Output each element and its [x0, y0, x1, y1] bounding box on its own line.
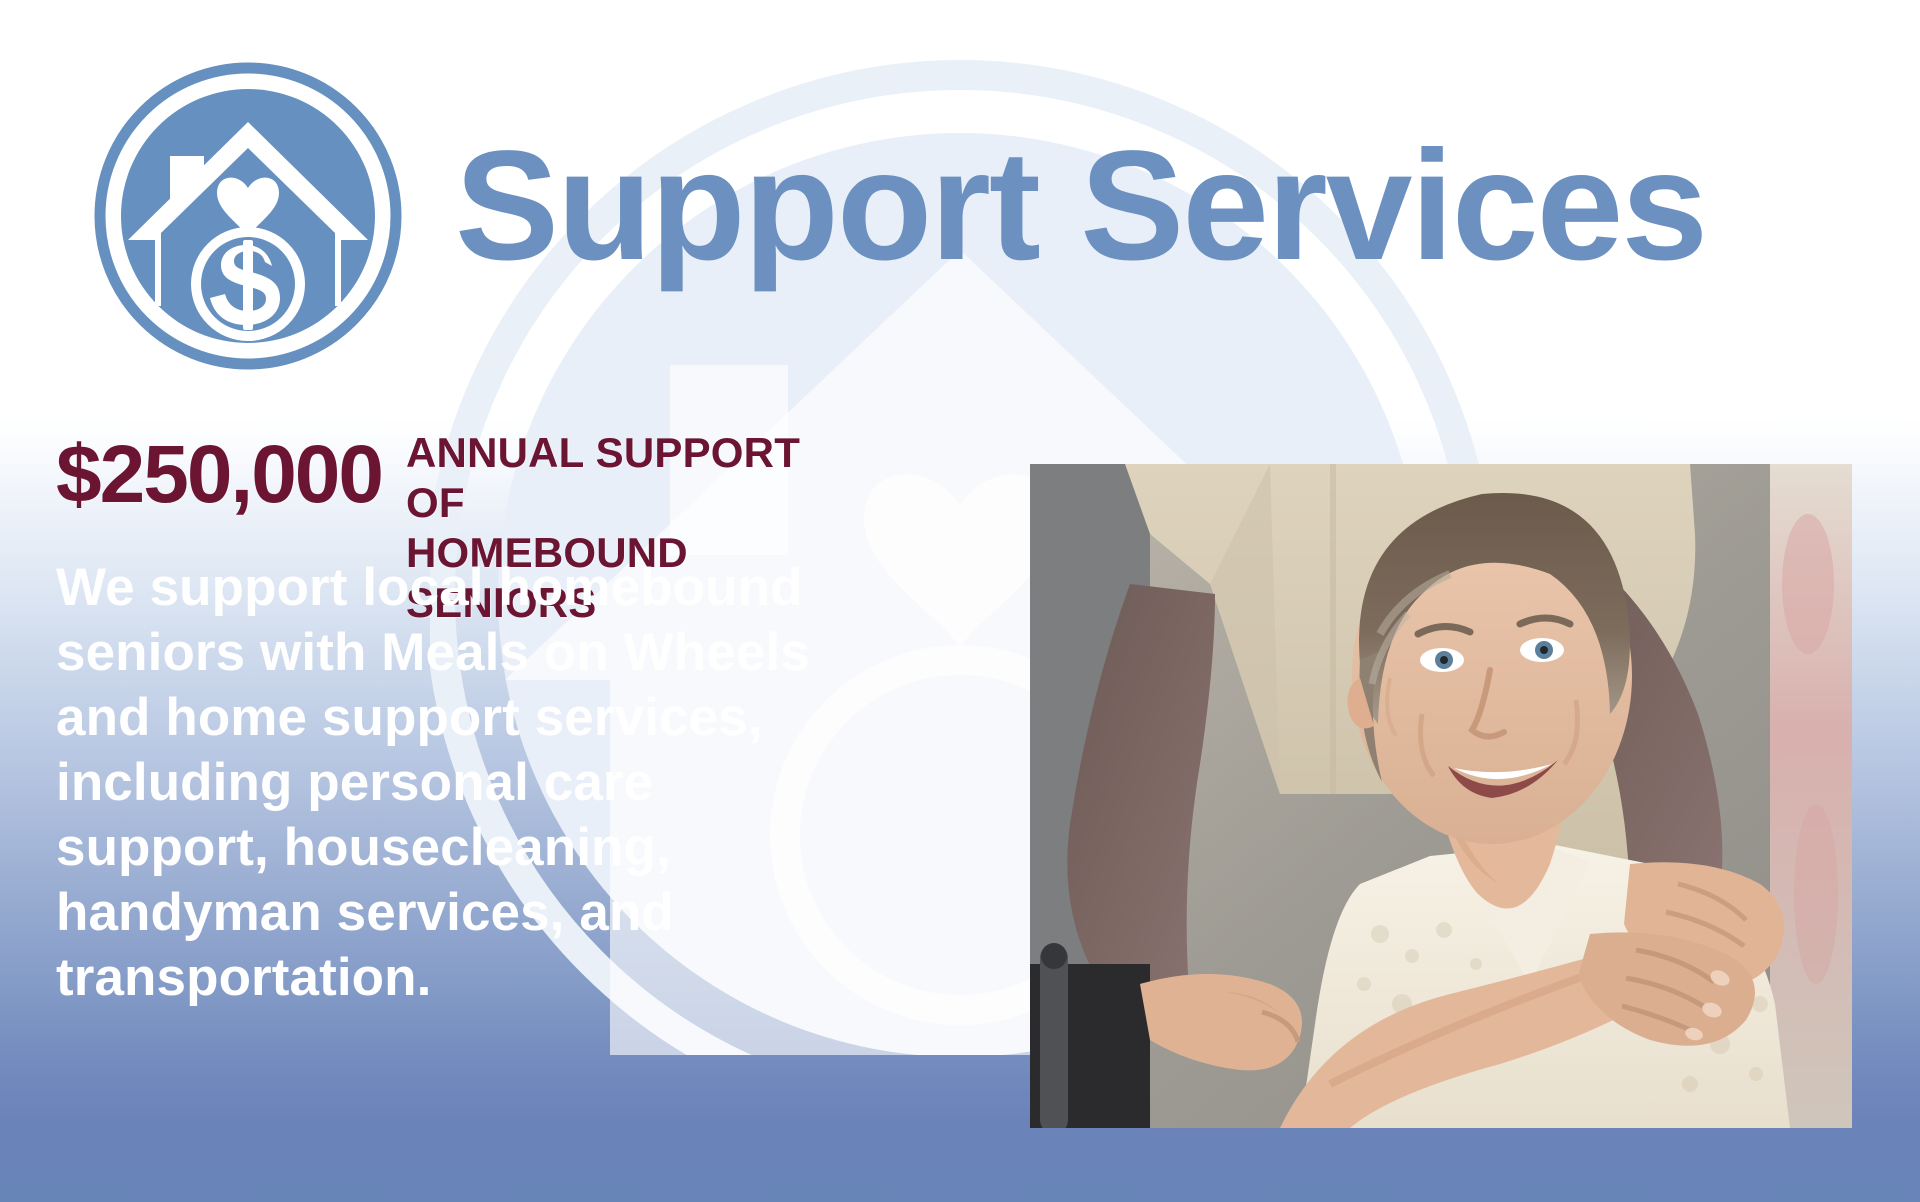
body-copy: We support local homebound seniors with … — [56, 555, 816, 1010]
support-services-poster: Support Services $250,000 ANNUAL SUPPORT… — [0, 0, 1920, 1202]
senior-woman-with-caregiver-photo — [1030, 464, 1852, 1128]
page-title: Support Services — [455, 131, 1905, 281]
stat-amount: $250,000 — [56, 434, 382, 516]
stat-caption-line-1: ANNUAL SUPPORT OF — [406, 428, 856, 528]
house-heart-dollar-circle-logo-icon — [92, 60, 404, 372]
bottom-edge-band — [0, 1190, 1920, 1202]
